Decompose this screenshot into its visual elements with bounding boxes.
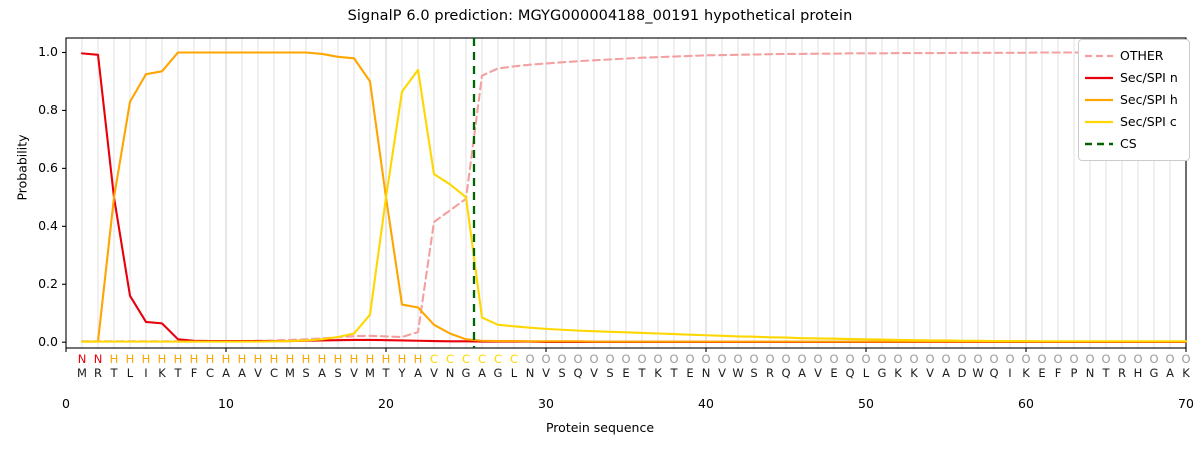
legend-item-sec-spi-h[interactable]: Sec/SPI h — [1085, 89, 1182, 111]
sec-spi-c-line-swatch-icon — [1085, 116, 1113, 128]
sec-spi-h-line-swatch-icon — [1085, 94, 1113, 106]
cleavage-site-line-swatch-icon — [1085, 138, 1113, 150]
legend-label-sec-spi-h: Sec/SPI h — [1120, 94, 1178, 107]
legend-item-cs[interactable]: CS — [1085, 133, 1182, 155]
other-line-swatch-icon — [1085, 50, 1113, 62]
legend-item-sec-spi-n[interactable]: Sec/SPI n — [1085, 67, 1182, 89]
plot-canvas — [0, 0, 1200, 450]
sequence-residue: K — [1177, 366, 1195, 380]
sec-spi-n-line-swatch-icon — [1085, 72, 1113, 84]
legend-label-other: OTHER — [1120, 50, 1163, 63]
signalp-prediction-figure: SignalP 6.0 prediction: MGYG000004188_00… — [0, 0, 1200, 450]
legend-item-sec-spi-c[interactable]: Sec/SPI c — [1085, 111, 1182, 133]
legend-label-sec-spi-n: Sec/SPI n — [1120, 72, 1178, 85]
legend-label-cs: CS — [1120, 138, 1137, 151]
chart-legend: OTHER Sec/SPI n Sec/SPI h Sec/SPI c CS — [1078, 39, 1190, 161]
legend-label-sec-spi-c: Sec/SPI c — [1120, 116, 1177, 129]
sequence-region-label: O — [1177, 352, 1195, 366]
legend-item-other[interactable]: OTHER — [1085, 45, 1182, 67]
